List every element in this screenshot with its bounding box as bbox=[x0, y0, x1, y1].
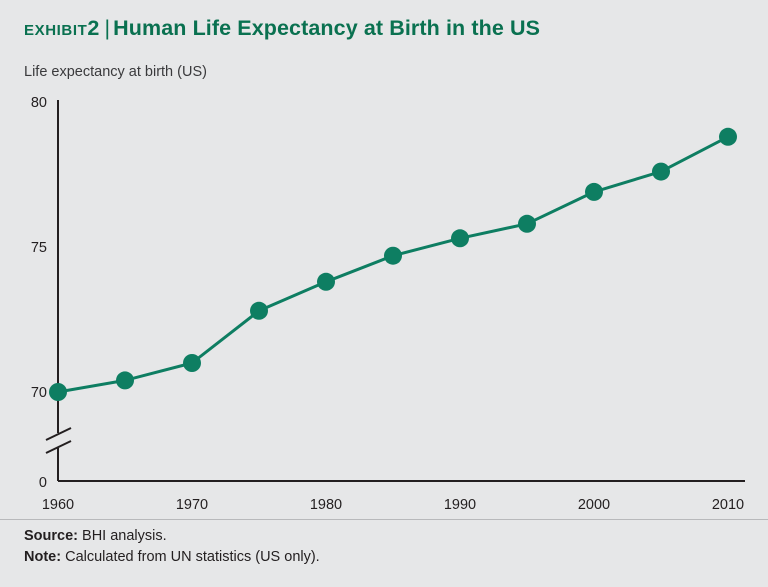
source-label: Source: bbox=[24, 528, 78, 544]
y-tick-label-70: 70 bbox=[31, 385, 47, 401]
data-point bbox=[116, 371, 134, 389]
data-point bbox=[250, 302, 268, 320]
x-tick-label-1990: 1990 bbox=[444, 497, 476, 513]
note-line: Note: Calculated from UN statistics (US … bbox=[24, 547, 320, 568]
y-tick-label-75: 75 bbox=[31, 240, 47, 256]
data-point bbox=[317, 273, 335, 291]
y-tick-label-0: 0 bbox=[39, 475, 47, 491]
data-point bbox=[652, 163, 670, 181]
source-text: BHI analysis. bbox=[82, 528, 167, 544]
data-point bbox=[384, 247, 402, 265]
data-point bbox=[585, 183, 603, 201]
line-chart: 80 75 70 0 1960 1970 1980 1990 2000 2010 bbox=[0, 0, 768, 587]
chart-page: Exhibit2|Human Life Expectancy at Birth … bbox=[0, 0, 768, 587]
note-text: Calculated from UN statistics (US only). bbox=[65, 549, 320, 565]
data-point bbox=[518, 215, 536, 233]
data-point bbox=[719, 128, 737, 146]
series-markers bbox=[49, 128, 737, 401]
y-tick-label-80: 80 bbox=[31, 95, 47, 111]
footnotes: Source: BHI analysis. Note: Calculated f… bbox=[24, 526, 320, 568]
footer-divider bbox=[0, 519, 768, 520]
data-point bbox=[49, 383, 67, 401]
data-point bbox=[451, 229, 469, 247]
x-tick-label-2000: 2000 bbox=[578, 497, 610, 513]
x-tick-label-1970: 1970 bbox=[176, 497, 208, 513]
data-point bbox=[183, 354, 201, 372]
x-tick-label-1960: 1960 bbox=[42, 497, 74, 513]
x-tick-label-2010: 2010 bbox=[712, 497, 744, 513]
note-label: Note: bbox=[24, 549, 61, 565]
x-tick-label-1980: 1980 bbox=[310, 497, 342, 513]
source-line: Source: BHI analysis. bbox=[24, 526, 320, 547]
